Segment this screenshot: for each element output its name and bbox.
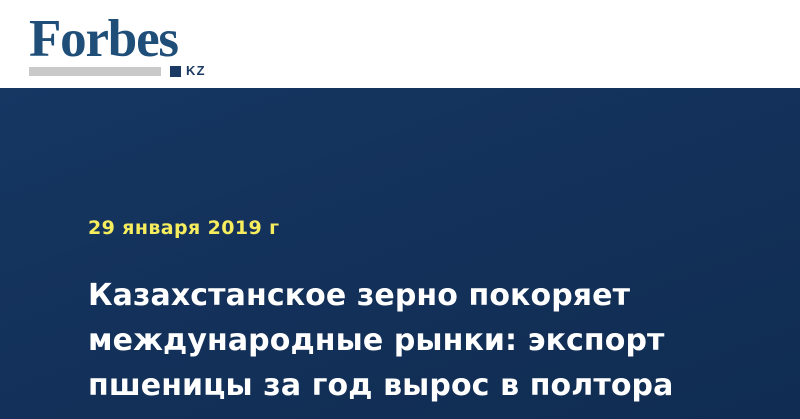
- logo-square-icon: [170, 66, 181, 77]
- forbes-kz-logo[interactable]: Forbes KZ: [29, 14, 229, 78]
- logo-underline-row: KZ: [29, 64, 229, 78]
- logo-gray-bar-icon: [29, 67, 161, 76]
- hero-panel: 29 января 2019 г Казахстанское зерно пок…: [0, 88, 800, 419]
- title-line: раза, ячменя - сразу вдвое: [88, 408, 728, 419]
- title-line: пшеницы за год вырос в полтора: [88, 363, 728, 408]
- publish-date: 29 января 2019 г: [88, 216, 279, 240]
- page-title: Казахстанское зерно покоряет международн…: [88, 273, 728, 419]
- logo-wordmark: Forbes: [29, 10, 178, 68]
- title-line: международные рынки: экспорт: [88, 318, 728, 363]
- title-line: Казахстанское зерно покоряет: [88, 273, 728, 318]
- site-header: Forbes KZ: [0, 0, 800, 88]
- article-card: Forbes KZ 29 января 2019 г Казахстанское…: [0, 0, 800, 419]
- logo-country-suffix: KZ: [186, 64, 206, 78]
